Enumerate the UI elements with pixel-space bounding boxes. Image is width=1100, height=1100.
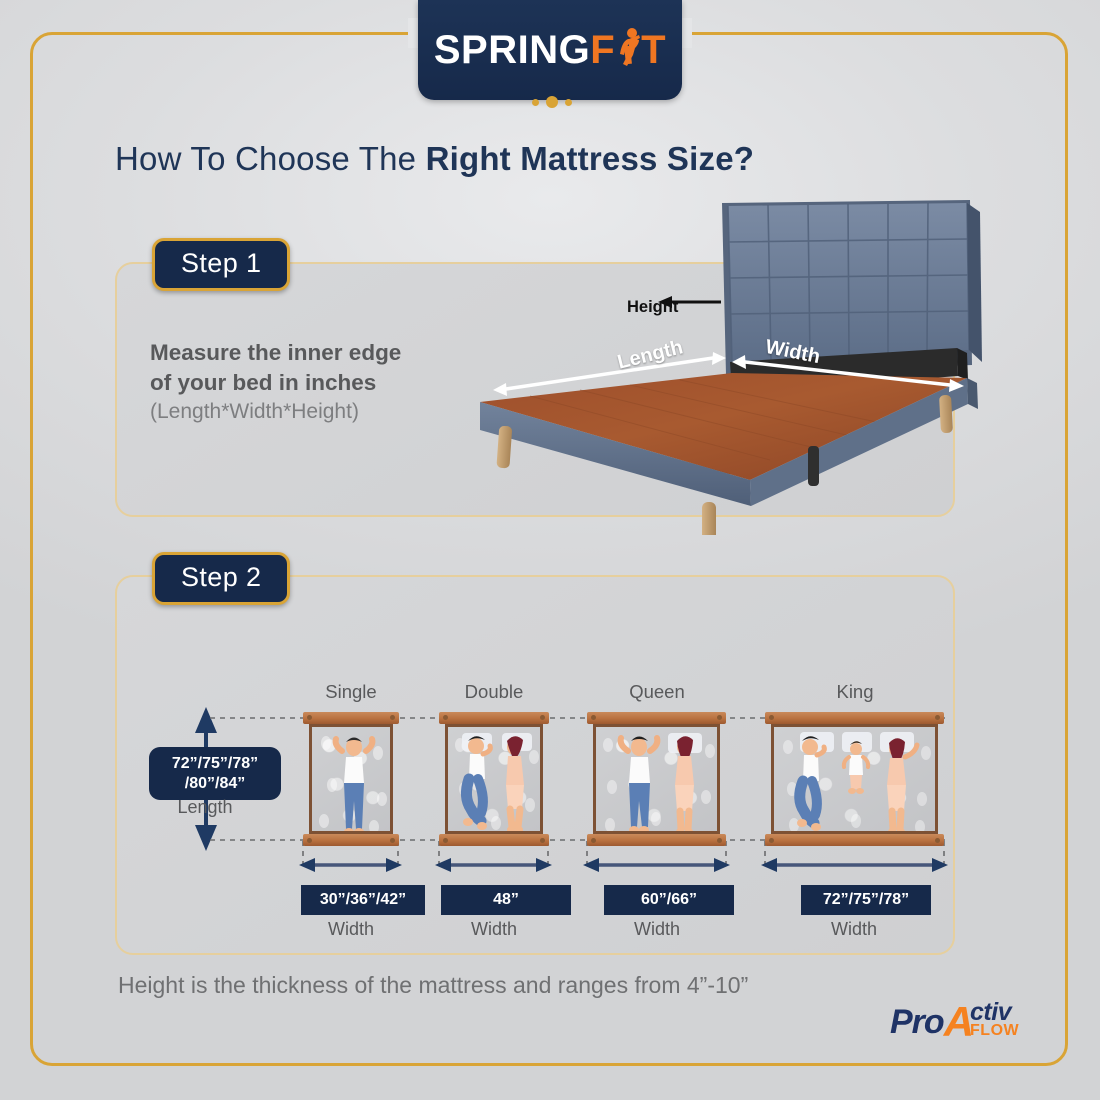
width-caption-double: Width xyxy=(441,919,547,940)
logo-t-text: T xyxy=(641,30,666,70)
springfit-logo: SPRINGF T xyxy=(434,30,666,70)
mattress-surface-single xyxy=(309,724,393,834)
mattress-rail-top xyxy=(303,712,399,724)
mattress-rail-bottom xyxy=(439,834,549,846)
width-caption-queen: Width xyxy=(604,919,710,940)
page-title-bold: Right Mattress Size? xyxy=(426,140,755,177)
ornament-dot-small-left xyxy=(532,99,539,106)
mattress-single xyxy=(303,712,399,846)
proactiv-pro-text: Pro xyxy=(890,1007,944,1038)
step1-line1: Measure the inner edge xyxy=(150,338,480,368)
mattress-surface-king xyxy=(771,724,938,834)
page-title: How To Choose The Right Mattress Size? xyxy=(115,140,985,178)
mattress-rail-top xyxy=(439,712,549,724)
width-badge-queen: 60”/66” xyxy=(604,885,734,915)
running-figure-icon xyxy=(615,30,641,70)
page-title-regular: How To Choose The xyxy=(115,140,426,177)
mattress-surface-queen xyxy=(593,724,720,834)
logo-spring-text: SPRING xyxy=(434,30,590,70)
mattress-surface-double xyxy=(445,724,543,834)
mattress-queen xyxy=(587,712,726,846)
ornament-dot-small-right xyxy=(565,99,572,106)
width-badge-king: 72”/75”/78” xyxy=(801,885,931,915)
mattress-rail-top xyxy=(765,712,944,724)
mattress-rail-bottom xyxy=(765,834,944,846)
width-caption-king: Width xyxy=(801,919,907,940)
mattress-rail-bottom xyxy=(587,834,726,846)
length-dimension-badge: 72”/75”/78” /80”/84” xyxy=(149,747,281,800)
proactiv-flow-logo: Pro A ctiv FLOW xyxy=(890,1000,1019,1039)
width-caption-single: Width xyxy=(301,919,401,940)
size-label-double: Double xyxy=(435,681,553,703)
logo-f-text: F xyxy=(590,30,615,70)
step2-badge: Step 2 xyxy=(152,552,290,605)
proactiv-a-text: A xyxy=(944,1003,972,1042)
infographic-canvas: SPRINGF T How To Choose The Right Mattre… xyxy=(0,0,1100,1100)
size-label-queen: Queen xyxy=(597,681,717,703)
step1-subtext: (Length*Width*Height) xyxy=(150,398,480,426)
springfit-logo-banner: SPRINGF T xyxy=(418,0,682,100)
length-caption: Length xyxy=(149,797,261,818)
step1-instruction-block: Measure the inner edge of your bed in in… xyxy=(150,338,480,426)
step1-badge: Step 1 xyxy=(152,238,290,291)
proactiv-ctiv-text: ctiv xyxy=(970,1001,1019,1024)
banner-dot-ornament xyxy=(478,95,626,109)
mattress-rail-bottom xyxy=(303,834,399,846)
bed-illustration xyxy=(470,190,990,535)
mattress-size-diagram: 72”/75”/78” /80”/84” Length Single xyxy=(115,575,955,955)
mattress-king xyxy=(765,712,944,846)
proactiv-flow-text: FLOW xyxy=(970,1024,1019,1039)
mattress-rail-top xyxy=(587,712,726,724)
width-badge-double: 48” xyxy=(441,885,571,915)
ornament-dot-large xyxy=(546,96,558,108)
footer-note: Height is the thickness of the mattress … xyxy=(118,972,748,999)
mattress-double xyxy=(439,712,549,846)
width-badge-single: 30”/36”/42” xyxy=(301,885,425,915)
size-label-single: Single xyxy=(293,681,409,703)
step1-line2: of your bed in inches xyxy=(150,368,480,398)
size-label-king: King xyxy=(795,681,915,703)
